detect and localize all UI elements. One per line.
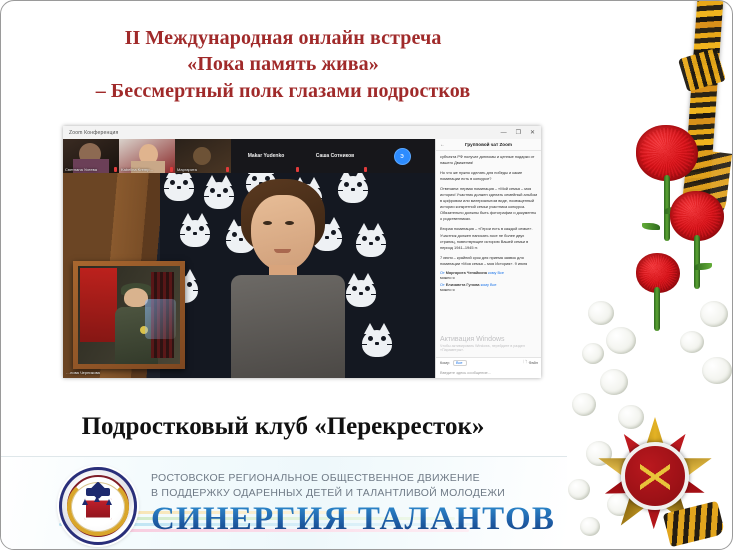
framed-soldier-portrait (73, 261, 185, 369)
organization-footer: РОСТОВСКОЕ РЕГИОНАЛЬНОЕ ОБЩЕСТВЕННОЕ ДВИ… (1, 456, 567, 549)
back-icon[interactable]: ← (436, 142, 449, 148)
participant-tile[interactable]: Маргарита (175, 139, 231, 173)
chat-message: 7 июня – крайний срок для приема заявок … (440, 255, 538, 267)
order-of-patriotic-war-icon (594, 415, 716, 537)
st-george-ribbon-wrap-icon (678, 48, 726, 92)
white-lilac-icon (588, 301, 614, 325)
file-label: Файл (529, 361, 538, 365)
participant-name: Makar Yudenko (248, 153, 285, 159)
white-lilac-icon (606, 327, 636, 354)
window-controls: — ❐ ✕ (501, 130, 541, 136)
sender-name: Маргарита Чепайкина (446, 271, 487, 275)
participant-person (227, 179, 349, 378)
chat-title: Групповой чат Zoom (465, 142, 526, 147)
recipient-select[interactable]: Все (453, 360, 468, 366)
to-label: кому (481, 283, 489, 287)
club-caption: Подростковый клуб «Перекресток» (27, 413, 539, 441)
participant-name: Светлана Усеева (65, 167, 97, 172)
participant-tile[interactable]: Саша Сотников (301, 139, 369, 173)
zoom-video-stage: Светлана Усеева Kabelina Kremp… Маргарит… (63, 139, 435, 378)
sender-name: Елизавета Гунова (446, 283, 480, 287)
mic-muted-icon (170, 167, 173, 172)
white-lilac-icon (702, 357, 732, 384)
chat-message: Но что же нужно сделать для победы и как… (440, 170, 538, 182)
white-lilac-icon (600, 369, 628, 395)
chat-message-list[interactable]: субъекта РФ получат дипломы и ценные под… (436, 151, 541, 347)
white-lilac-icon (618, 405, 644, 429)
red-carnation-icon (636, 253, 680, 293)
white-lilac-icon (572, 393, 596, 416)
mic-muted-icon (296, 167, 299, 172)
decorative-column (557, 1, 732, 550)
headline-line-1: II Международная онлайн встреча (27, 25, 539, 51)
white-lilac-icon (700, 301, 728, 327)
windows-activation-watermark: Активация Windows Чтобы активировать Win… (440, 336, 541, 352)
organization-name: РОСТОВСКОЕ РЕГИОНАЛЬНОЕ ОБЩЕСТВЕННОЕ ДВИ… (151, 471, 551, 501)
zoom-title-bar: Zoom Конференция — ❐ ✕ (63, 126, 541, 139)
white-lilac-icon (582, 343, 604, 364)
page-title: II Международная онлайн встреча «Пока па… (27, 25, 539, 104)
chat-message: можно я (440, 276, 538, 280)
org-line-1: РОСТОВСКОЕ РЕГИОНАЛЬНОЕ ОБЩЕСТВЕННОЕ ДВИ… (151, 471, 551, 486)
active-speaker-name: …лова Черникова (66, 370, 100, 375)
avatar: э (394, 148, 411, 165)
st-george-ribbon-icon (683, 0, 724, 213)
to-label: Кому: (440, 361, 450, 365)
white-lilac-icon (580, 517, 600, 536)
participant-name: Маргарита (177, 167, 197, 172)
headline-line-2: «Пока память жива» (27, 51, 539, 77)
brand-name: СИНЕРГИЯ ТАЛАНТОВ (151, 503, 561, 536)
from-prefix: От (440, 271, 445, 275)
red-carnation-icon (670, 191, 724, 241)
mic-muted-icon (364, 167, 367, 172)
recipient-name: Все (497, 271, 504, 275)
slide-canvas: II Международная онлайн встреча «Пока па… (0, 0, 733, 550)
watermark-subtitle: Чтобы активировать Windows, перейдите в … (440, 344, 541, 352)
participant-tile[interactable]: Makar Yudenko (231, 139, 301, 173)
chat-message: можно я (440, 288, 538, 292)
white-lilac-icon (586, 441, 612, 466)
participant-tile-avatar[interactable]: э (369, 139, 435, 173)
minimize-icon[interactable]: — (501, 130, 507, 136)
organization-logo (59, 467, 137, 545)
file-icon: 🗋 (524, 360, 527, 366)
zoom-chat-panel: ← Групповой чат Zoom субъекта РФ получат… (435, 139, 541, 378)
recipient-name: Все (490, 283, 497, 287)
maximize-icon[interactable]: ❐ (516, 130, 521, 136)
chat-footer: Кому: Все 🗋 Файл Введите здесь сообщение… (436, 357, 541, 378)
mic-muted-icon (114, 167, 117, 172)
watermark-title: Активация Windows (440, 336, 505, 343)
chat-message-pinned: Отвечаем: первая номинация – «Мой семья … (440, 186, 538, 222)
participant-name: Kabelina Kremp… (121, 167, 153, 172)
chat-message: Вторая номинация – «Герои есть в каждой … (440, 226, 538, 250)
participant-name: Саша Сотников (316, 153, 354, 159)
from-prefix: От (440, 283, 445, 287)
active-speaker-video: …лова Черникова (63, 173, 435, 378)
headline-line-3: – Бессмертный полк глазами подростков (27, 78, 539, 104)
file-button[interactable]: 🗋 Файл (524, 360, 538, 366)
zoom-meeting-screenshot: Zoom Конференция — ❐ ✕ Светлана Усеева (63, 126, 541, 378)
white-lilac-icon (568, 479, 590, 500)
close-icon[interactable]: ✕ (530, 130, 535, 136)
chat-message-sender: От Елизавета Гунова кому Все (440, 283, 538, 287)
red-carnation-icon (636, 125, 698, 181)
chat-message: субъекта РФ получат дипломы и ценные под… (440, 154, 538, 166)
zoom-window-title: Zoom Конференция (63, 130, 118, 136)
white-lilac-icon (607, 493, 632, 516)
chat-input[interactable]: Введите здесь сообщение… (436, 368, 541, 378)
mic-muted-icon (226, 167, 229, 172)
org-line-2: В ПОДДЕРЖКУ ОДАРЕННЫХ ДЕТЕЙ И ТАЛАНТЛИВО… (151, 486, 551, 501)
chat-header: ← Групповой чат Zoom (436, 139, 541, 151)
participant-strip: Светлана Усеева Kabelina Kremp… Маргарит… (63, 139, 435, 173)
participant-tile[interactable]: Kabelina Kremp… (119, 139, 175, 173)
participant-tile[interactable]: Светлана Усеева (63, 139, 119, 173)
st-george-ribbon-tail-icon (680, 149, 732, 224)
white-lilac-icon (680, 331, 704, 353)
chat-message-sender: От Маргарита Чепайкина кому Все (440, 271, 538, 275)
to-label: кому (488, 271, 496, 275)
